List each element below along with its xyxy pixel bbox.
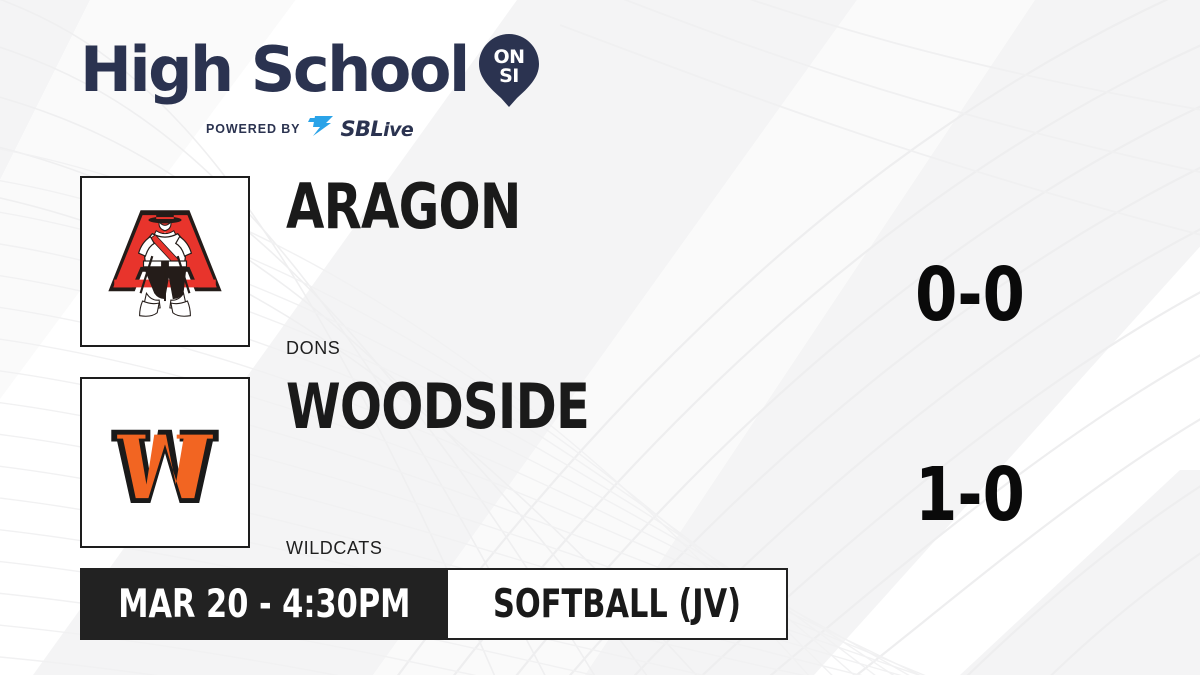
brand-title: High School: [80, 41, 468, 100]
sblive-wordmark-main: SBL: [340, 117, 383, 141]
team-mascot-aragon: DONS: [286, 338, 340, 359]
game-sport-text: SOFTBALL (JV): [493, 585, 741, 624]
team-mascot-woodside: WILDCATS: [286, 538, 382, 559]
team-logo-box-aragon: [80, 176, 250, 347]
game-sport-box: SOFTBALL (JV): [448, 568, 788, 640]
brand-title-row: High School ON SI: [80, 32, 520, 108]
team-logo-box-woodside: [80, 377, 250, 548]
sblive-wordmark-tail: ive: [383, 119, 413, 141]
powered-by-label: POWERED BY: [206, 122, 300, 136]
game-datetime-box: MAR 20 - 4:30PM: [80, 568, 448, 640]
game-datetime-text: MAR 20 - 4:30PM: [118, 585, 410, 624]
team-name-aragon: ARAGON: [286, 176, 521, 238]
pin-badge-bottom: SI: [499, 65, 519, 87]
team-name-woodside: WOODSIDE: [286, 376, 589, 438]
powered-by-row: POWERED BY SBLive: [206, 116, 520, 141]
team-record-aragon: 0-0: [888, 258, 1052, 332]
game-info-banner: MAR 20 - 4:30PM SOFTBALL (JV): [80, 568, 788, 640]
on-si-pin-icon: ON SI: [478, 32, 540, 108]
woodside-w-logo-icon: [82, 379, 248, 546]
sblive-lightning-icon: [307, 116, 333, 141]
aragon-don-a-logo-icon: [82, 178, 248, 345]
team-record-woodside: 1-0: [888, 458, 1052, 532]
sblive-wordmark: SBLive: [340, 117, 413, 141]
brand-lockup: High School ON SI POWERED BY SBLive: [80, 32, 520, 141]
